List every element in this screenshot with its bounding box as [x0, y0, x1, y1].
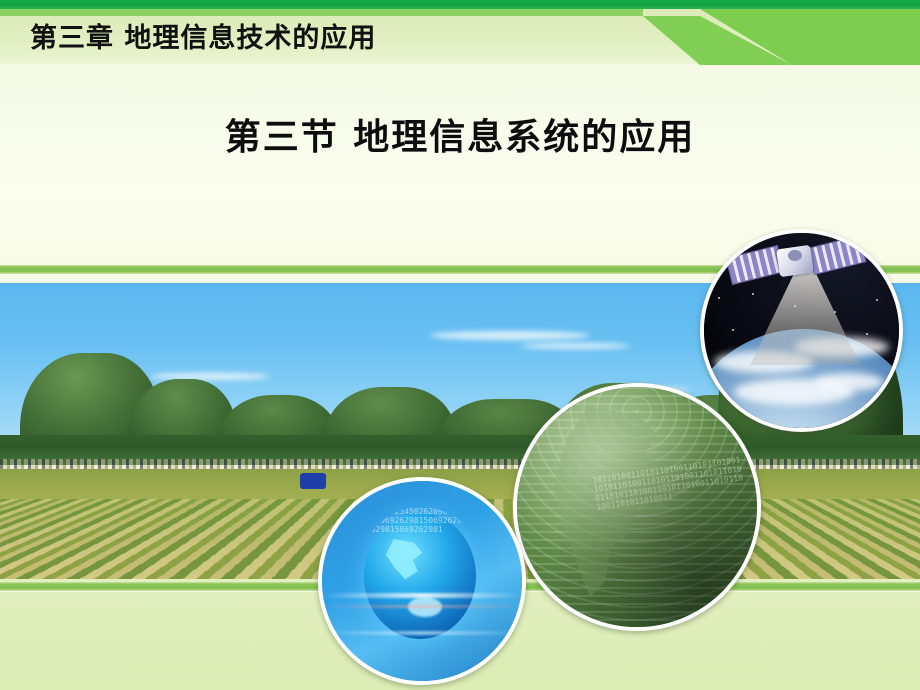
- cloud-band: [814, 373, 884, 391]
- cloud: [520, 343, 630, 349]
- chapter-title: 第三章 地理信息技术的应用: [30, 16, 376, 55]
- star: [718, 297, 720, 299]
- light-streak: [322, 605, 522, 608]
- blue-digital-globe-circle: 4953311725450262098150692629815069262981…: [318, 477, 526, 685]
- globe-shading: [517, 387, 757, 627]
- satellite-dish-icon: [788, 250, 802, 261]
- header-thin-stripe: [0, 9, 643, 16]
- top-accent-bar: [0, 0, 920, 9]
- light-streak: [322, 631, 522, 635]
- star: [866, 333, 868, 335]
- page-title: 第三节 地理信息系统的应用: [0, 108, 920, 160]
- star: [876, 299, 878, 301]
- green-digital-globe-circle: 1011010011010110100110101101001101011010…: [513, 383, 761, 631]
- presentation-slide: 第三章 地理信息技术的应用 第三节 地理信息系统的应用: [0, 0, 920, 690]
- cloud: [430, 331, 590, 340]
- cloud: [150, 373, 270, 380]
- star: [752, 293, 754, 295]
- star: [732, 329, 734, 331]
- light-streak: [322, 593, 522, 598]
- binary-digits: 4953311725450262098150692629815069262981…: [356, 507, 486, 647]
